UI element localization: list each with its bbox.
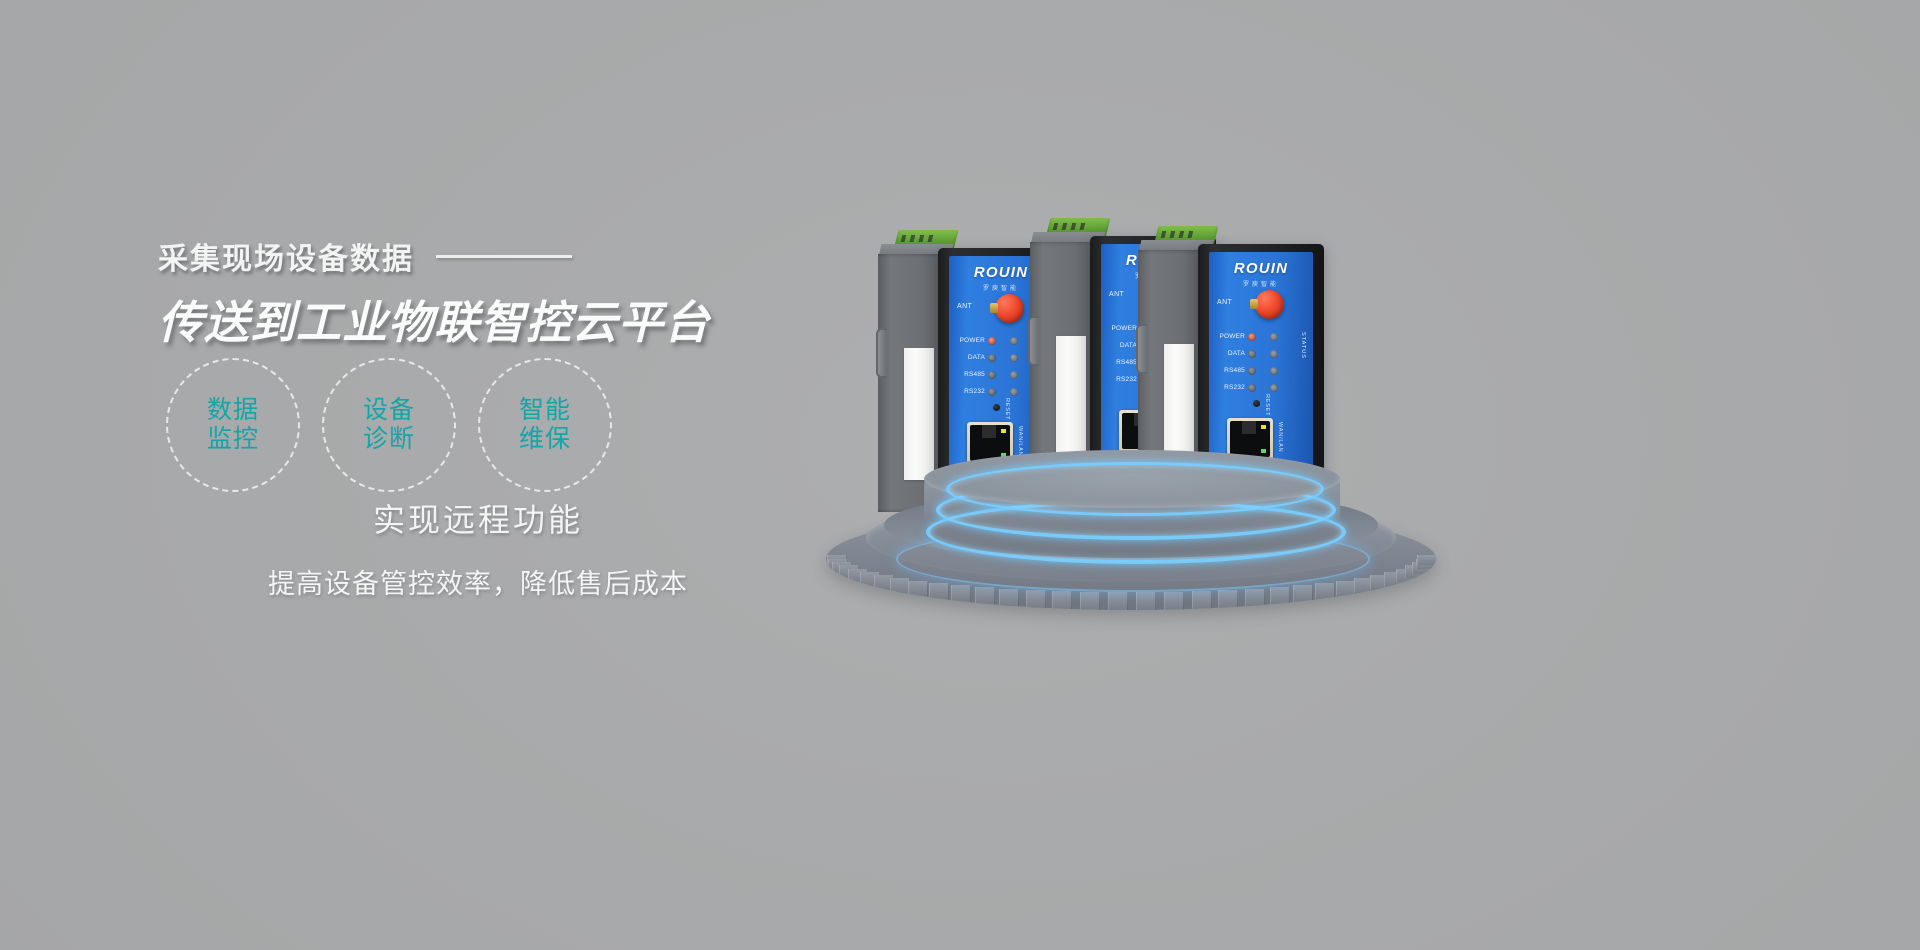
led-dot-icon bbox=[1248, 350, 1256, 358]
led-label: DATA bbox=[955, 354, 988, 361]
eyebrow-rule-divider bbox=[436, 255, 572, 258]
led-row-data: DATA bbox=[1215, 345, 1307, 362]
led-label: RS485 bbox=[955, 371, 988, 378]
led-dot-icon bbox=[1270, 384, 1278, 392]
reset-button-icon[interactable] bbox=[993, 404, 1000, 411]
hero-copy-block: 采集现场设备数据 传送到工业物联智控云平台 bbox=[158, 236, 798, 351]
feature-label-line1: 设备 bbox=[363, 396, 415, 426]
feature-circle-group: 数据 监控 设备 诊断 智能 维保 bbox=[166, 358, 612, 492]
eyebrow-text: 采集现场设备数据 bbox=[158, 234, 414, 278]
lan-port-label: WAN/LAN bbox=[1277, 422, 1283, 452]
pedestal-gear-tooth bbox=[890, 578, 910, 593]
led-dot-icon bbox=[1248, 367, 1256, 375]
pedestal-gear-tooth bbox=[1026, 590, 1046, 608]
led-dot-icon bbox=[988, 337, 996, 345]
din-rail-clip bbox=[876, 328, 887, 378]
pedestal-gear-tooth bbox=[1052, 591, 1072, 609]
antenna-port-label: ANT bbox=[1217, 299, 1232, 306]
led-row-power: POWER bbox=[1215, 328, 1307, 345]
pedestal-gear-tooth bbox=[1164, 592, 1184, 610]
pedestal-gear-tooth bbox=[929, 583, 949, 599]
pedestal-gear-tooth bbox=[1293, 585, 1313, 602]
led-dot-icon bbox=[1010, 388, 1018, 396]
antenna-connector-icon bbox=[995, 294, 1024, 323]
pedestal-gear-tooth bbox=[951, 585, 971, 602]
rj45-led-icon bbox=[1001, 429, 1006, 433]
device-side-label bbox=[1056, 336, 1086, 468]
pedestal-gear-tooth bbox=[999, 589, 1019, 606]
pedestal-gear-tooth bbox=[1192, 591, 1212, 609]
din-rail-clip bbox=[1136, 324, 1147, 374]
led-indicator-block: STATUS POWER DATA RS485 bbox=[1215, 328, 1307, 396]
pedestal-gear-tooth bbox=[975, 587, 995, 604]
led-label: RS232 bbox=[1107, 376, 1140, 383]
pedestal-gear-tooth bbox=[1417, 555, 1436, 565]
led-row-rs232: RS232 bbox=[1215, 379, 1307, 396]
led-dot-icon bbox=[1270, 367, 1278, 375]
product-scene: ROUIN 罗庾智能 ANT STATUS POWER DATA bbox=[800, 200, 1500, 630]
pedestal-gear-tooth bbox=[1245, 589, 1265, 606]
led-dot-icon bbox=[1270, 333, 1278, 341]
eyebrow-row: 采集现场设备数据 bbox=[158, 236, 798, 276]
antenna-connector-icon bbox=[1255, 290, 1284, 319]
led-label: RS485 bbox=[1215, 367, 1248, 374]
led-label: POWER bbox=[1215, 333, 1248, 340]
led-dot-icon bbox=[988, 354, 996, 362]
led-label: RS232 bbox=[955, 388, 988, 395]
subhead-line-1: 实现远程功能 bbox=[158, 495, 798, 541]
pedestal-top-surface bbox=[924, 450, 1340, 508]
feature-circle-smart-maintenance[interactable]: 智能 维保 bbox=[478, 358, 612, 492]
hero-headline: 传送到工业物联智控云平台 bbox=[158, 286, 798, 351]
rj45-led-icon bbox=[1261, 425, 1266, 429]
led-dot-icon bbox=[1248, 333, 1256, 341]
led-label: DATA bbox=[1215, 350, 1248, 357]
pedestal-gear-tooth bbox=[1270, 587, 1290, 604]
brand-logo-text: ROUIN bbox=[1209, 260, 1313, 277]
led-dot-icon bbox=[1010, 337, 1018, 345]
feature-label-line2: 维保 bbox=[519, 425, 571, 455]
led-side-label: STATUS bbox=[1300, 332, 1306, 359]
pedestal-gear-tooth bbox=[1336, 581, 1356, 597]
pedestal-gear-tooth bbox=[1080, 592, 1100, 610]
led-label: POWER bbox=[955, 337, 988, 344]
feature-label-line2: 监控 bbox=[207, 425, 259, 455]
pedestal-gear-tooth bbox=[1218, 590, 1238, 608]
led-label: RS232 bbox=[1215, 384, 1248, 391]
feature-circle-data-monitoring[interactable]: 数据 监控 bbox=[166, 358, 300, 492]
feature-label-line1: 智能 bbox=[519, 396, 571, 426]
reset-label: RESET bbox=[1004, 398, 1010, 420]
feature-label-line1: 数据 bbox=[207, 396, 259, 426]
led-dot-icon bbox=[988, 371, 996, 379]
led-dot-icon bbox=[988, 388, 996, 396]
reset-label: RESET bbox=[1264, 394, 1270, 416]
pedestal-gear-tooth bbox=[1315, 583, 1335, 599]
feature-circle-device-diagnosis[interactable]: 设备 诊断 bbox=[322, 358, 456, 492]
antenna-port-label: ANT bbox=[957, 303, 972, 310]
led-dot-icon bbox=[1010, 371, 1018, 379]
brand-logo-subtext: 罗庾智能 bbox=[1209, 279, 1313, 288]
pedestal-gear-tooth bbox=[1108, 592, 1128, 610]
feature-label-line2: 诊断 bbox=[363, 425, 415, 455]
pedestal-gear-tooth bbox=[908, 581, 928, 597]
hero-subhead-block: 实现远程功能 提高设备管控效率，降低售后成本 bbox=[158, 495, 798, 601]
reset-button-icon[interactable] bbox=[1253, 400, 1260, 407]
hero-banner: 采集现场设备数据 传送到工业物联智控云平台 数据 监控 设备 诊断 智能 维保 … bbox=[0, 0, 1920, 950]
glowing-pedestal bbox=[826, 450, 1436, 610]
led-dot-icon bbox=[1248, 384, 1256, 392]
led-dot-icon bbox=[1270, 350, 1278, 358]
led-row-rs485: RS485 bbox=[1215, 362, 1307, 379]
pedestal-gear-tooth bbox=[1136, 592, 1156, 610]
subhead-line-2: 提高设备管控效率，降低售后成本 bbox=[158, 562, 798, 601]
din-rail-clip bbox=[1028, 316, 1039, 366]
led-dot-icon bbox=[1010, 354, 1018, 362]
antenna-port-label: ANT bbox=[1109, 291, 1124, 298]
